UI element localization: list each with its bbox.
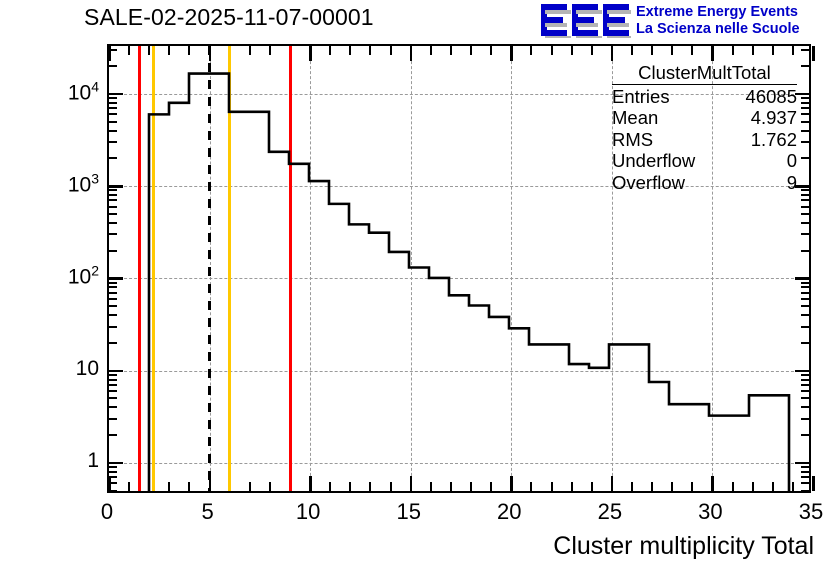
eee-logo-icon	[540, 2, 632, 38]
x-tick-label: 30	[698, 499, 722, 525]
stats-row: Mean4.937	[612, 107, 797, 129]
stats-key: Entries	[612, 86, 670, 108]
stats-value: 9	[787, 172, 797, 194]
stats-row: Entries46085	[612, 86, 797, 108]
x-major-tick	[812, 476, 815, 491]
stats-value: 0	[787, 150, 797, 172]
stats-key: Overflow	[612, 172, 685, 194]
stats-row: Overflow9	[612, 172, 797, 194]
x-tick-label: 10	[296, 499, 320, 525]
x-tick-label: 15	[396, 499, 420, 525]
stats-row: Underflow0	[612, 150, 797, 172]
y-tick-label: 10	[76, 357, 99, 381]
page-title: SALE-02-2025-11-07-00001	[84, 4, 374, 31]
stats-value: 46085	[746, 86, 797, 108]
stats-key: RMS	[612, 129, 653, 151]
eee-logo-line1: Extreme Energy Events	[636, 4, 800, 21]
eee-logo-line2: La Scienza nelle Scuole	[636, 21, 800, 38]
histogram-canvas: SALE-02-2025-11-07-00001	[0, 0, 836, 572]
stats-value: 4.937	[751, 107, 797, 129]
x-tick-label: 5	[201, 499, 213, 525]
x-tick-label: 20	[497, 499, 521, 525]
y-tick-label: 102	[68, 263, 99, 290]
x-tick-label: 25	[598, 499, 622, 525]
x-major-tick	[812, 46, 815, 61]
stats-box: ClusterMultTotal Entries46085Mean4.937RM…	[612, 62, 797, 194]
stats-key: Underflow	[612, 150, 695, 172]
x-tick-label: 35	[799, 499, 823, 525]
stats-key: Mean	[612, 107, 658, 129]
x-axis-title: Cluster multiplicity Total	[553, 532, 814, 561]
stats-value: 1.762	[751, 129, 797, 151]
eee-logo-text: Extreme Energy Events La Scienza nelle S…	[636, 4, 800, 37]
stats-row: RMS1.762	[612, 129, 797, 151]
y-tick-label: 104	[68, 78, 99, 105]
y-tick-label: 1	[87, 449, 99, 473]
stats-title: ClusterMultTotal	[612, 62, 797, 85]
x-tick-label: 0	[101, 499, 113, 525]
stats-rows: Entries46085Mean4.937RMS1.762Underflow0O…	[612, 86, 797, 194]
y-tick-label: 103	[68, 171, 99, 198]
eee-logo: Extreme Energy Events La Scienza nelle S…	[540, 2, 832, 42]
